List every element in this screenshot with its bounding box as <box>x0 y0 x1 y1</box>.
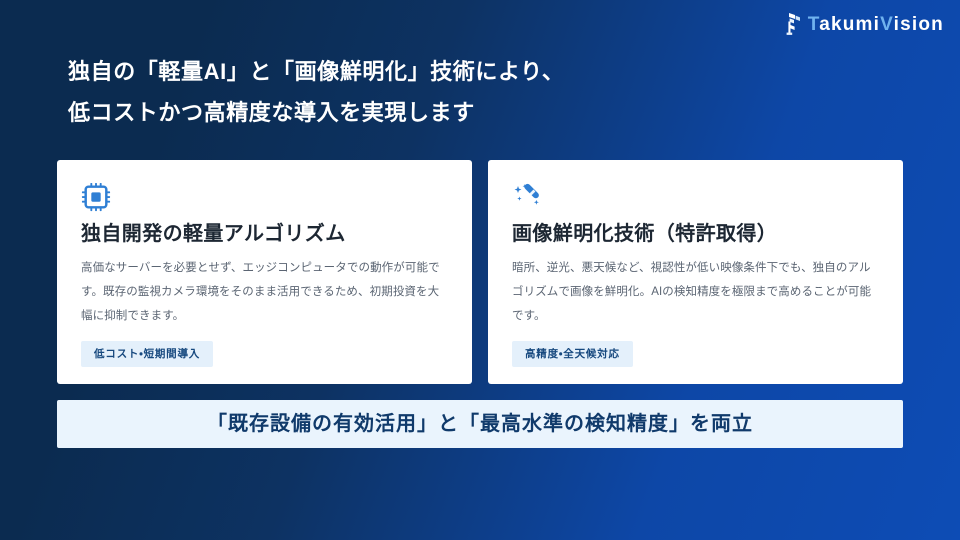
brand-wordmark: TakumiVision <box>808 15 944 34</box>
cpu-chip-icon <box>81 182 448 212</box>
brand-letter-t: T <box>808 14 819 35</box>
card-badge: 高精度・全天候対応 <box>512 341 633 367</box>
brand-logo: TakumiVision <box>780 10 944 38</box>
feature-card-image-enhancement: 画像鮮明化技術（特許取得） 暗所、逆光、悪天候など、視認性が低い映像条件下でも、… <box>488 160 903 384</box>
headline: 独自の「軽量AI」と「画像鮮明化」技術により、 低コストかつ高精度な導入を実現し… <box>68 52 898 133</box>
headline-line-2: 低コストかつ高精度な導入を実現します <box>68 93 898 134</box>
feature-cards: 独自開発の軽量アルゴリズム 高価なサーバーを必要とせず、エッジコンピュータでの動… <box>57 160 903 384</box>
card-body: 暗所、逆光、悪天候など、視認性が低い映像条件下でも、独自のアルゴリズムで画像を鮮… <box>512 257 879 329</box>
brand-word-ision: ision <box>894 14 944 35</box>
summary-banner-text: 「既存設備の有効活用」と「最高水準の検知精度」を両立 <box>207 414 753 434</box>
card-badge: 低コスト・短期間導入 <box>81 341 213 367</box>
takumi-mark-icon <box>780 12 802 36</box>
card-body: 高価なサーバーを必要とせず、エッジコンピュータでの動作が可能です。既存の監視カメ… <box>81 257 448 329</box>
card-title: 独自開発の軽量アルゴリズム <box>81 222 448 246</box>
headline-line-1: 独自の「軽量AI」と「画像鮮明化」技術により、 <box>68 52 898 93</box>
feature-card-lightweight-algorithm: 独自開発の軽量アルゴリズム 高価なサーバーを必要とせず、エッジコンピュータでの動… <box>57 160 472 384</box>
summary-banner: 「既存設備の有効活用」と「最高水準の検知精度」を両立 <box>57 400 903 448</box>
card-title: 画像鮮明化技術（特許取得） <box>512 222 879 246</box>
brand-letter-v: V <box>880 14 894 35</box>
magic-wand-icon <box>512 182 879 212</box>
brand-word-akumi: akumi <box>819 14 880 35</box>
slide-root: TakumiVision 独自の「軽量AI」と「画像鮮明化」技術により、 低コス… <box>0 0 960 540</box>
